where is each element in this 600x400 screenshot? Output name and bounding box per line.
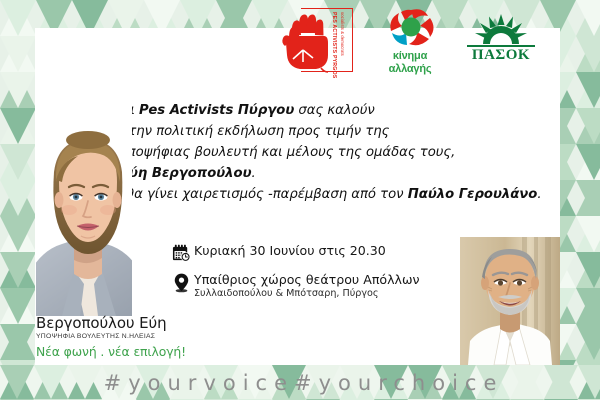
calendar-clock-icon bbox=[168, 243, 194, 263]
campaign-poster: PES ACTIVISTS PYRGOS socialists & democr… bbox=[0, 0, 600, 400]
invitation-line-5: θα γίνει χαιρετισμός -παρέμβαση από τον … bbox=[120, 184, 570, 205]
speaker-portrait-photo bbox=[460, 237, 560, 365]
hashtag-banner-text: #yourvoice#yourchoice bbox=[0, 365, 600, 400]
kinal-logo-text: κίνημα αλλαγής bbox=[367, 50, 453, 75]
event-place-row: Υπαίθριος χώρος θεάτρου Απόλλων Συλλαιδο… bbox=[168, 272, 498, 300]
invitation-line-1: Οι Pes Activists Πύργου σας καλούν bbox=[120, 100, 570, 121]
event-date-row: Κυριακή 30 Ιουνίου στις 20.30 bbox=[168, 243, 498, 263]
event-venue-text: Υπαίθριος χώρος θεάτρου Απόλλων bbox=[194, 272, 420, 287]
invitation-line-5-pre: θα γίνει χαιρετισμός -παρέμβαση από τον bbox=[126, 187, 408, 202]
rising-sun-icon bbox=[475, 14, 527, 44]
pasok-logo: ΠΑΣΟΚ bbox=[459, 14, 543, 70]
invitation-line-5-post: . bbox=[537, 187, 541, 202]
event-details: Κυριακή 30 Ιουνίου στις 20.30 Υπαίθριος … bbox=[168, 243, 498, 309]
pasok-logo-label: ΠΑΣΟΚ bbox=[459, 47, 543, 64]
pes-logo-vertical-subtext: socialists & democrats bbox=[333, 12, 345, 68]
invitation-text: Οι Pes Activists Πύργου σας καλούν στην … bbox=[120, 100, 570, 205]
invitation-line-4: Εύη Βεργοπούλου. bbox=[120, 163, 570, 184]
event-date-text-group: Κυριακή 30 Ιουνίου στις 20.30 bbox=[194, 243, 386, 258]
candidate-info-block: Βεργοπούλου Εύη ΥΠΟΨΗΦΙΑ ΒΟΥΛΕΥΤΗΣ Ν.ΗΛΕ… bbox=[36, 315, 266, 359]
invitation-line-4-bold: Εύη Βεργοπούλου bbox=[120, 166, 251, 181]
event-place-text-group: Υπαίθριος χώρος θεάτρου Απόλλων Συλλαιδο… bbox=[194, 272, 420, 300]
event-date-text: Κυριακή 30 Ιουνίου στις 20.30 bbox=[194, 243, 386, 258]
logo-row: PES ACTIVISTS PYRGOS socialists & democr… bbox=[255, 2, 515, 82]
invitation-line-5-bold: Παύλο Γερουλάνο bbox=[408, 187, 538, 202]
kinal-logo-line2: αλλαγής bbox=[367, 63, 453, 76]
candidate-role: ΥΠΟΨΗΦΙΑ ΒΟΥΛΕΥΤΗΣ Ν.ΗΛΕΙΑΣ bbox=[36, 333, 266, 340]
candidate-portrait-photo bbox=[36, 84, 132, 316]
kinal-rosette-icon bbox=[387, 6, 435, 50]
invitation-line-1-post: σας καλούν bbox=[294, 103, 375, 118]
invitation-line-4-post: . bbox=[251, 166, 255, 181]
invitation-line-2: στην πολιτική εκδήλωση προς τιμήν της bbox=[120, 121, 570, 142]
invitation-line-1-bold: Pes Activists Πύργου bbox=[139, 103, 294, 118]
kinima-allagis-logo: κίνημα αλλαγής bbox=[367, 6, 453, 82]
candidate-name: Βεργοπούλου Εύη bbox=[36, 315, 266, 332]
hashtag-banner: #yourvoice#yourchoice bbox=[0, 365, 600, 400]
invitation-line-3: υποψήφιας βουλευτή και μέλους της ομάδας… bbox=[120, 142, 570, 163]
map-pin-icon bbox=[168, 272, 194, 293]
candidate-slogan: Νέα φωνή . νέα επιλογή! bbox=[36, 344, 266, 359]
event-address-text: Συλλαιδοπούλου & Μπότσαρη, Πύργος bbox=[194, 288, 420, 300]
pes-activists-logo: PES ACTIVISTS PYRGOS socialists & democr… bbox=[281, 6, 357, 78]
kinal-logo-line1: κίνημα bbox=[367, 50, 453, 63]
